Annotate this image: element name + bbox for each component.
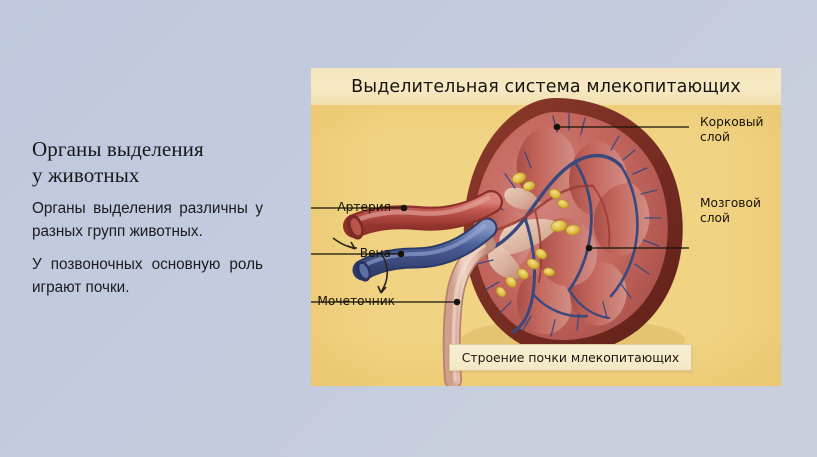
body-paragraph-1: Органы выделения различны у разных групп… (32, 197, 263, 243)
label-medulla: Мозговой слой (700, 196, 761, 226)
label-medulla-line-1: Мозговой (700, 196, 761, 211)
label-medulla-line-2: слой (700, 211, 761, 226)
label-artery: Артерия (331, 200, 391, 215)
page-title: Органы выделения у животных (32, 136, 263, 188)
body-paragraph-2: У позвоночных основную роль играют почки… (32, 253, 263, 299)
page-title-line-2: у животных (32, 162, 263, 188)
label-cortex-line-1: Корковый (700, 115, 763, 130)
text-column: Органы выделения у животных Органы выдел… (32, 136, 263, 299)
label-cortex-line-2: слой (700, 130, 763, 145)
label-vein: Вена (331, 246, 391, 261)
label-ureter: Мочеточник (311, 294, 395, 309)
figure-panel: Выделительная система млекопитающих (311, 68, 781, 386)
label-cortex: Корковый слой (700, 115, 763, 145)
figure-caption: Строение почки млекопитающих (449, 344, 692, 371)
slide-canvas: Органы выделения у животных Органы выдел… (0, 0, 817, 457)
page-title-line-1: Органы выделения (32, 137, 204, 161)
